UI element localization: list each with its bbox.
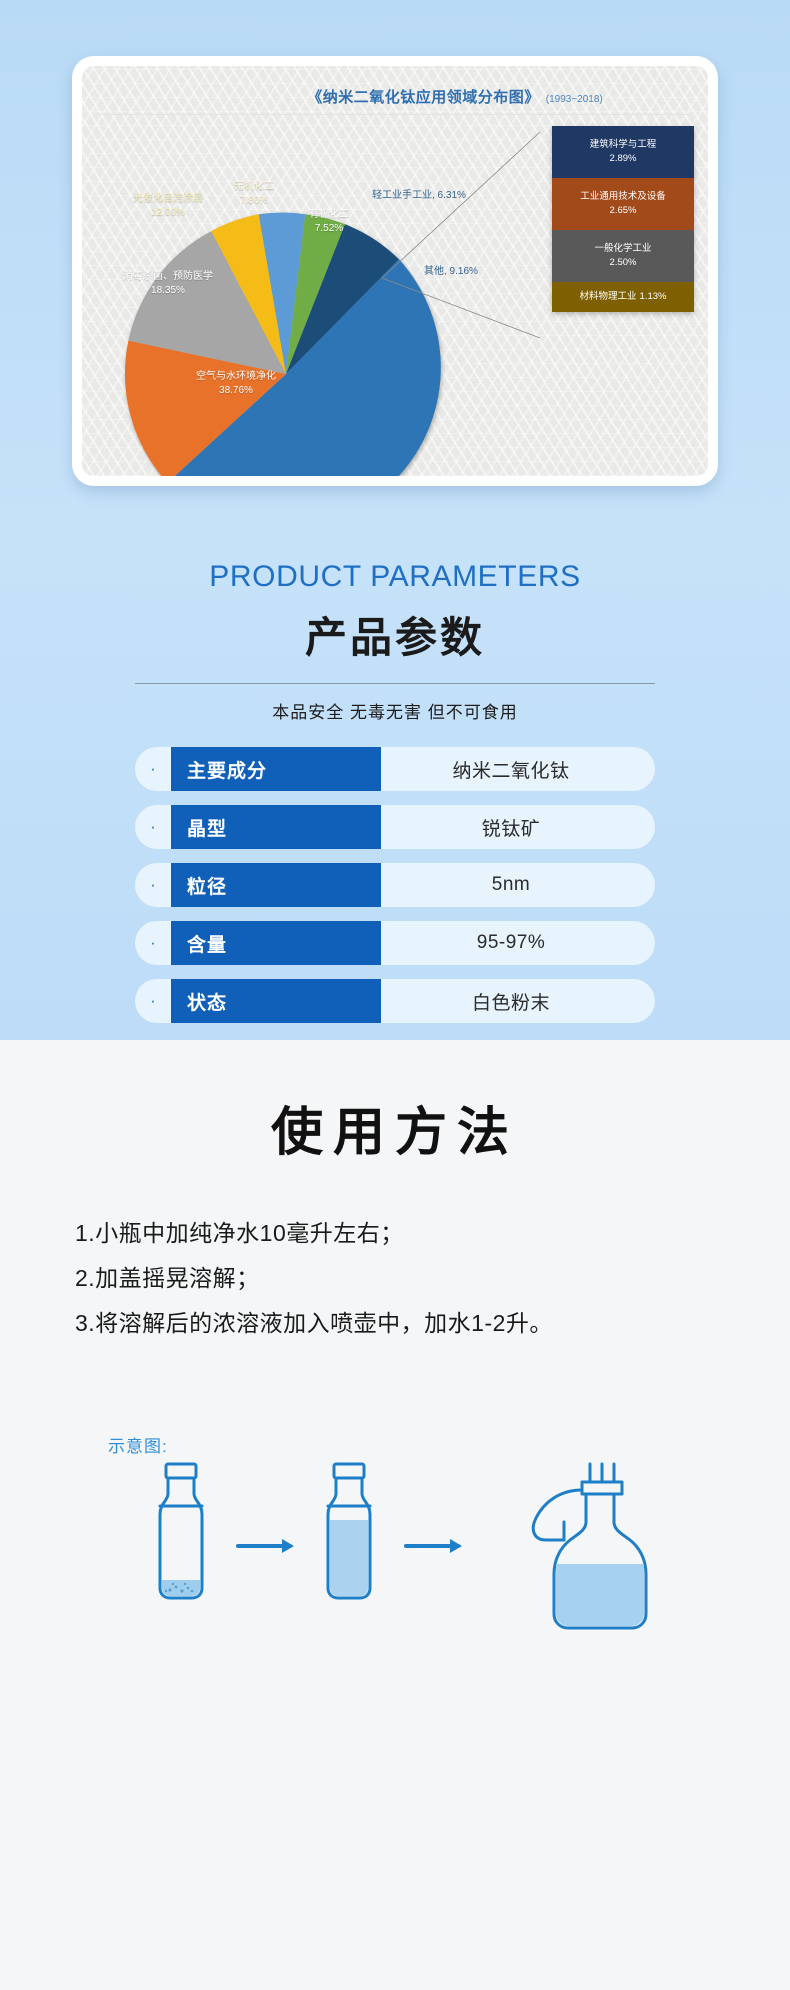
table-row: · 晶型 锐钛矿 <box>135 805 655 849</box>
row-bullet-icon: · <box>135 875 171 895</box>
product-parameters-section: PRODUCT PARAMETERS 产品参数 本品安全 无毒无害 但不可食用 … <box>0 540 790 1040</box>
legend-value-general-chemical: 2.50% <box>610 256 637 270</box>
param-key-crystal-form: 晶型 <box>171 805 381 849</box>
usage-steps-list: 1.小瓶中加纯净水10毫升左右； 2.加盖摇晃溶解； 3.将溶解后的浓溶液加入喷… <box>75 1211 715 1346</box>
usage-step-3: 3.将溶解后的浓溶液加入喷壶中，加水1-2升。 <box>75 1301 715 1346</box>
params-divider <box>135 683 655 684</box>
liquid-fill <box>162 1520 644 1626</box>
legend-item-general-chemical[interactable]: 一般化学工业 2.50% <box>552 230 694 282</box>
usage-diagram <box>120 1460 680 1680</box>
table-row: · 粒径 5nm <box>135 863 655 907</box>
chart-subtitle: (1993~2018) <box>546 94 603 105</box>
pie-svg <box>90 112 490 476</box>
usage-step-2: 2.加盖摇晃溶解； <box>75 1256 715 1301</box>
param-value-crystal-form: 锐钛矿 <box>381 814 655 841</box>
row-bullet-icon: · <box>135 933 171 953</box>
params-title-cn: 产品参数 <box>0 604 790 665</box>
pie-outside-label-other: 其他, 9.16% <box>424 262 478 277</box>
table-row: · 状态 白色粉末 <box>135 979 655 1023</box>
legend-label-material-physics: 材料物理工业 <box>580 290 637 304</box>
legend-label-industrial-tech: 工业通用技术及设备 <box>580 190 666 204</box>
legend-item-construction[interactable]: 建筑科学与工程 2.89% <box>552 126 694 178</box>
param-key-particle-size: 粒径 <box>171 863 381 907</box>
parameters-table: · 主要成分 纳米二氧化钛 · 晶型 锐钛矿 · 粒径 5nm · 含量 95-… <box>135 747 655 1023</box>
arrow-right-icon-1 <box>238 1539 294 1553</box>
usage-step-1: 1.小瓶中加纯净水10毫升左右； <box>75 1211 715 1256</box>
row-bullet-icon: · <box>135 817 171 837</box>
legend-item-industrial-tech[interactable]: 工业通用技术及设备 2.65% <box>552 178 694 230</box>
param-key-state: 状态 <box>171 979 381 1023</box>
param-value-particle-size: 5nm <box>381 874 655 896</box>
pie-chart: 无机化工 7.86% 有机化工 7.52% 光催化自洁涂层 12.06% 消毒杀… <box>90 112 490 476</box>
row-bullet-icon: · <box>135 991 171 1011</box>
param-value-main-ingredient: 纳米二氧化钛 <box>381 756 655 783</box>
legend-stack: 建筑科学与工程 2.89% 工业通用技术及设备 2.65% 一般化学工业 2.5… <box>552 126 694 312</box>
chart-canvas: 《纳米二氧化钛应用领域分布图》(1993~2018) <box>82 66 708 476</box>
table-row: · 含量 95-97% <box>135 921 655 965</box>
arrow-right-icon-2 <box>406 1539 462 1553</box>
row-bullet-icon: · <box>135 759 171 779</box>
chart-title-wrap: 《纳米二氧化钛应用领域分布图》(1993~2018) <box>82 86 708 107</box>
table-row: · 主要成分 纳米二氧化钛 <box>135 747 655 791</box>
param-key-content: 含量 <box>171 921 381 965</box>
legend-value-industrial-tech: 2.65% <box>610 204 637 218</box>
param-value-state: 白色粉末 <box>381 988 655 1015</box>
legend-item-material-physics[interactable]: 材料物理工业 1.13% <box>552 282 694 312</box>
chart-title: 《纳米二氧化钛应用领域分布图》 <box>307 89 540 106</box>
usage-section: 使用方法 1.小瓶中加纯净水10毫升左右； 2.加盖摇晃溶解； 3.将溶解后的浓… <box>0 1040 790 1990</box>
pie-outside-label-light-industry: 轻工业手工业, 6.31% <box>372 186 466 201</box>
usage-title: 使用方法 <box>0 1090 790 1165</box>
param-value-content: 95-97% <box>381 932 655 954</box>
param-key-main-ingredient: 主要成分 <box>171 747 381 791</box>
params-title-en: PRODUCT PARAMETERS <box>0 560 790 594</box>
legend-label-general-chemical: 一般化学工业 <box>594 242 651 256</box>
chart-section: 《纳米二氧化钛应用领域分布图》(1993~2018) <box>0 0 790 540</box>
chart-card: 《纳米二氧化钛应用领域分布图》(1993~2018) <box>72 56 718 486</box>
legend-value-material-physics: 1.13% <box>640 290 667 304</box>
usage-diagram-svg <box>120 1460 680 1680</box>
bottle-empty-icon <box>160 1464 202 1598</box>
diagram-label: 示意图: <box>108 1432 168 1457</box>
legend-label-construction: 建筑科学与工程 <box>590 138 657 152</box>
params-subtitle: 本品安全 无毒无害 但不可食用 <box>0 698 790 723</box>
legend-value-construction: 2.89% <box>610 152 637 166</box>
